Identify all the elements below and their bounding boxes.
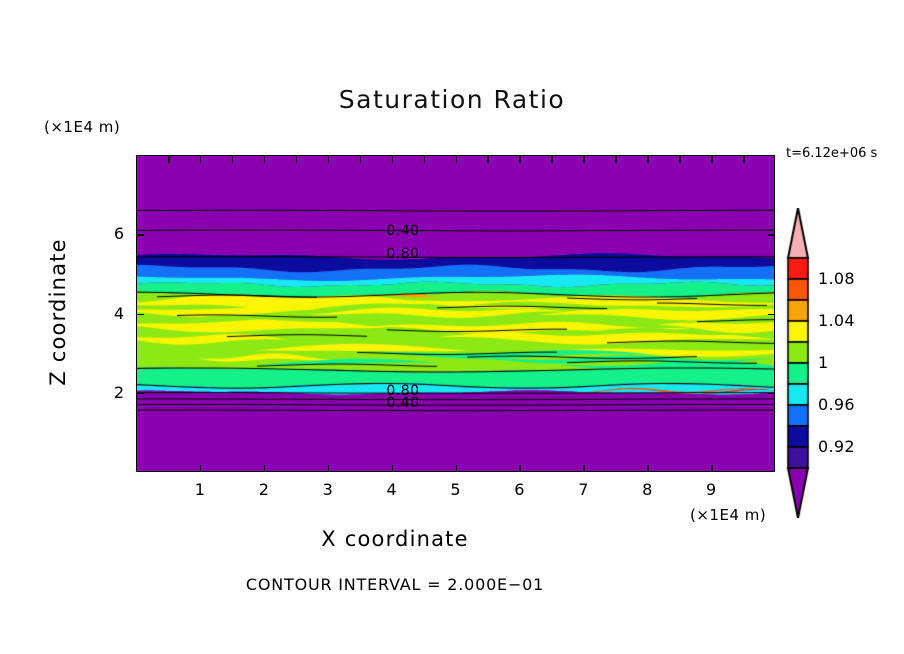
axis-tick bbox=[200, 156, 202, 163]
colorbar-tick-label: 1.08 bbox=[818, 269, 855, 288]
axis-tick bbox=[392, 465, 394, 472]
axis-tick bbox=[583, 156, 585, 163]
axis-tick bbox=[647, 465, 649, 472]
axis-tick bbox=[583, 465, 585, 472]
axis-tick bbox=[647, 156, 649, 163]
axis-tick bbox=[137, 393, 144, 395]
axis-tick bbox=[487, 156, 489, 163]
axis-tick bbox=[768, 393, 775, 395]
y-axis-title: Z coordinate bbox=[46, 212, 70, 412]
page-title: Saturation Ratio bbox=[0, 85, 904, 114]
colorbar-tick-label: 1 bbox=[818, 353, 828, 372]
axis-tick bbox=[551, 156, 553, 163]
colorbar-tick-label: 0.92 bbox=[818, 437, 855, 456]
x-tick-label: 4 bbox=[377, 480, 407, 499]
axis-tick bbox=[711, 465, 713, 472]
axis-tick bbox=[519, 156, 521, 163]
x-tick-label: 6 bbox=[504, 480, 534, 499]
axis-tick bbox=[392, 156, 394, 163]
x-tick-label: 3 bbox=[313, 480, 343, 499]
x-tick-label: 2 bbox=[249, 480, 279, 499]
axis-tick bbox=[424, 156, 426, 163]
x-tick-label: 9 bbox=[696, 480, 726, 499]
axis-tick bbox=[679, 156, 681, 163]
x-axis-title: X coordinate bbox=[0, 527, 790, 551]
contour-value-label: 0.40 bbox=[386, 395, 419, 411]
contour-interval-caption: CONTOUR INTERVAL = 2.000E−01 bbox=[0, 575, 790, 594]
colorbar-tick-label: 1.04 bbox=[818, 311, 855, 330]
colorbar-canvas bbox=[786, 208, 810, 518]
x-axis-units-label: (×1E4 m) bbox=[690, 506, 766, 524]
y-tick-label: 2 bbox=[94, 383, 124, 402]
axis-tick bbox=[743, 156, 745, 163]
axis-tick bbox=[360, 156, 362, 163]
axis-tick bbox=[232, 156, 234, 163]
axis-tick bbox=[137, 234, 144, 236]
x-tick-label: 1 bbox=[185, 480, 215, 499]
time-annotation: t=6.12e+06 s bbox=[786, 146, 877, 161]
colorbar-tick-label: 0.96 bbox=[818, 395, 855, 414]
x-tick-label: 7 bbox=[568, 480, 598, 499]
x-tick-label: 8 bbox=[632, 480, 662, 499]
x-tick-label: 5 bbox=[441, 480, 471, 499]
contour-value-label: 0.80 bbox=[386, 246, 419, 262]
y-tick-label: 6 bbox=[94, 224, 124, 243]
axis-tick bbox=[328, 465, 330, 472]
axis-tick bbox=[137, 314, 144, 316]
axis-tick bbox=[264, 156, 266, 163]
z-axis-units-label: (×1E4 m) bbox=[44, 118, 120, 136]
axis-tick bbox=[519, 465, 521, 472]
axis-tick bbox=[711, 156, 713, 163]
y-tick-label: 4 bbox=[94, 304, 124, 323]
contour-field-canvas bbox=[137, 156, 775, 472]
axis-tick bbox=[328, 156, 330, 163]
axis-tick bbox=[768, 314, 775, 316]
colorbar bbox=[786, 208, 810, 518]
axis-tick bbox=[615, 156, 617, 163]
axis-tick bbox=[768, 234, 775, 236]
contour-value-label: 0.40 bbox=[386, 223, 419, 239]
axis-tick bbox=[456, 156, 458, 163]
contour-plot-area bbox=[136, 155, 775, 472]
axis-tick bbox=[168, 156, 170, 163]
axis-tick bbox=[200, 465, 202, 472]
axis-tick bbox=[296, 156, 298, 163]
axis-tick bbox=[456, 465, 458, 472]
axis-tick bbox=[264, 465, 266, 472]
